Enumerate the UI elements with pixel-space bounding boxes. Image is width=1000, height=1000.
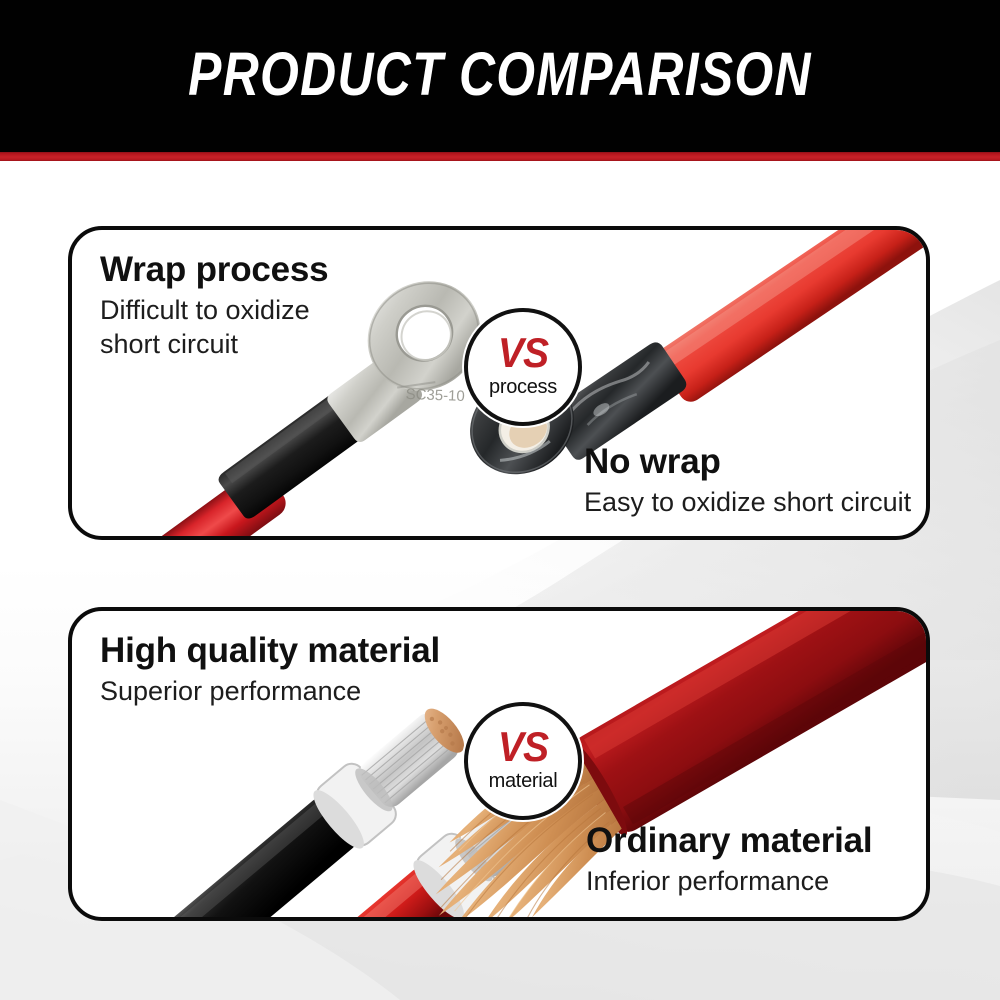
- vs-label: VS: [498, 729, 548, 765]
- header-accent-stripe: [0, 152, 1000, 161]
- card-2-right-subtext: Inferior performance: [586, 866, 872, 898]
- comparison-infographic: PRODUCT COMPARISON: [0, 0, 1000, 1000]
- vs-label: VS: [498, 335, 548, 371]
- card-1-right-text: No wrap Easy to oxidize short circuit: [584, 444, 911, 519]
- vs-badge-material: VS material: [464, 702, 582, 820]
- vs-category-label: material: [489, 771, 558, 791]
- card-1-right-heading: No wrap: [584, 444, 911, 481]
- card-1-left-heading: Wrap process: [100, 252, 328, 289]
- card-2-right-heading: Ordinary material: [586, 823, 872, 860]
- svg-text:SC35-10: SC35-10: [405, 386, 465, 405]
- vs-badge-process: VS process: [464, 308, 582, 426]
- card-2-left-heading: High quality material: [100, 633, 440, 670]
- card-2-right-text: Ordinary material Inferior performance: [586, 823, 872, 898]
- header-banner: PRODUCT COMPARISON: [0, 0, 1000, 152]
- card-1-right-subtext: Easy to oxidize short circuit: [584, 487, 911, 519]
- page-title: PRODUCT COMPARISON: [70, 0, 930, 157]
- card-1-left-text: Wrap process Difficult to oxidize short …: [100, 252, 328, 360]
- vs-category-label: process: [489, 377, 557, 397]
- card-1-left-subtext-line-2: short circuit: [100, 329, 328, 361]
- card-1-left-subtext-line-1: Difficult to oxidize: [100, 295, 328, 327]
- card-2-left-subtext: Superior performance: [100, 676, 440, 708]
- card-2-left-text: High quality material Superior performan…: [100, 633, 440, 708]
